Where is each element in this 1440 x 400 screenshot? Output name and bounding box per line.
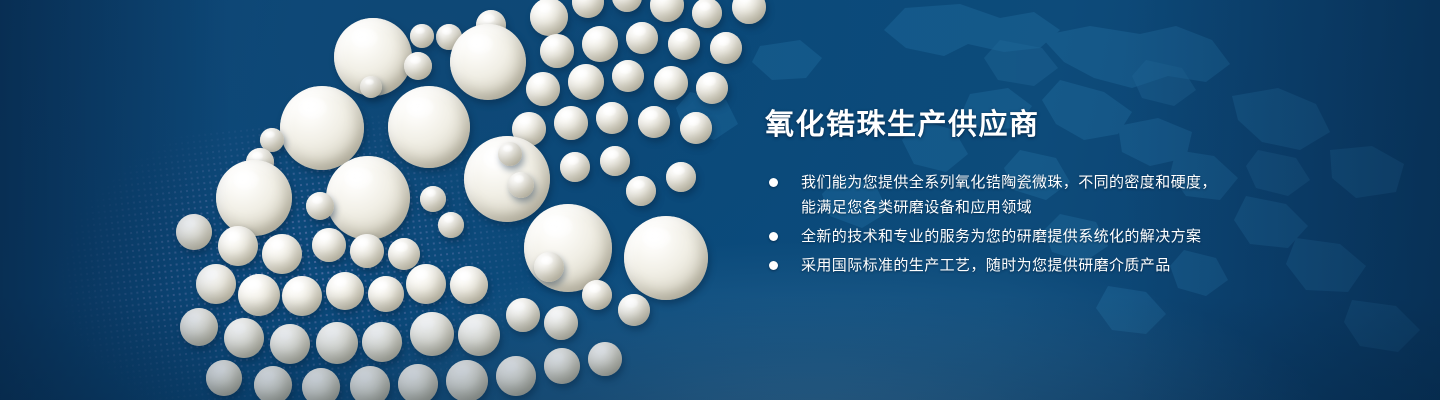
feature-bullet-line: 全新的技术和专业的服务为您的研磨提供系统化的解决方案 xyxy=(801,224,1385,249)
feature-bullet-line: 我们能为您提供全系列氧化锆陶瓷微珠，不同的密度和硬度， xyxy=(801,170,1385,195)
bullet-dot-icon xyxy=(769,232,778,241)
bullet-dot-icon xyxy=(769,261,778,270)
feature-bullet-line: 采用国际标准的生产工艺，随时为您提供研磨介质产品 xyxy=(801,253,1385,278)
bullet-dot-icon xyxy=(769,178,778,187)
feature-bullet-list: 我们能为您提供全系列氧化锆陶瓷微珠，不同的密度和硬度，能满足您各类研磨设备和应用… xyxy=(765,170,1385,278)
feature-bullet-item: 全新的技术和专业的服务为您的研磨提供系统化的解决方案 xyxy=(765,224,1385,249)
feature-bullet-item: 我们能为您提供全系列氧化锆陶瓷微珠，不同的密度和硬度，能满足您各类研磨设备和应用… xyxy=(765,170,1385,220)
product-hero-banner: 氧化锆珠生产供应商 我们能为您提供全系列氧化锆陶瓷微珠，不同的密度和硬度，能满足… xyxy=(0,0,1440,400)
page-title: 氧化锆珠生产供应商 xyxy=(765,104,1385,144)
banner-text-block: 氧化锆珠生产供应商 我们能为您提供全系列氧化锆陶瓷微珠，不同的密度和硬度，能满足… xyxy=(765,104,1385,282)
feature-bullet-line: 能满足您各类研磨设备和应用领域 xyxy=(801,195,1385,220)
feature-bullet-item: 采用国际标准的生产工艺，随时为您提供研磨介质产品 xyxy=(765,253,1385,278)
